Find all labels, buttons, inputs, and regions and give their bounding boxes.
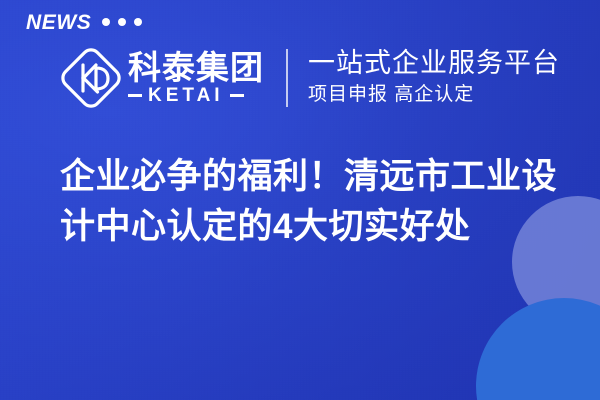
tagline-main: 一站式企业服务平台 <box>308 48 560 80</box>
dot-icon <box>134 18 142 26</box>
news-label: NEWS <box>26 12 91 33</box>
brand-text: 科泰集团 KETAI <box>128 51 264 106</box>
dot-icon <box>118 18 126 26</box>
dash-rule-icon <box>230 94 244 97</box>
ketai-diamond-monogram-icon <box>58 45 124 111</box>
news-banner: NEWS 科泰集团 KETAI <box>0 0 600 400</box>
brand-name-en: KETAI <box>148 86 224 105</box>
tagline-sub: 项目申报 高企认定 <box>308 83 560 108</box>
news-dots <box>102 18 142 27</box>
vertical-divider-icon <box>286 49 288 107</box>
dash-rule-icon <box>128 94 142 97</box>
news-label-row: NEWS <box>26 12 142 33</box>
tagline-block: 一站式企业服务平台 项目申报 高企认定 <box>308 48 560 108</box>
brand-name-cn: 科泰集团 <box>128 51 264 85</box>
brand-row: 科泰集团 KETAI 一站式企业服务平台 项目申报 高企认定 <box>58 42 560 114</box>
dot-icon <box>102 18 110 26</box>
page-title: 企业必争的福利！清远市工业设计中心认定的4大切实好处 <box>60 152 572 251</box>
brand-name-en-row: KETAI <box>128 86 264 105</box>
